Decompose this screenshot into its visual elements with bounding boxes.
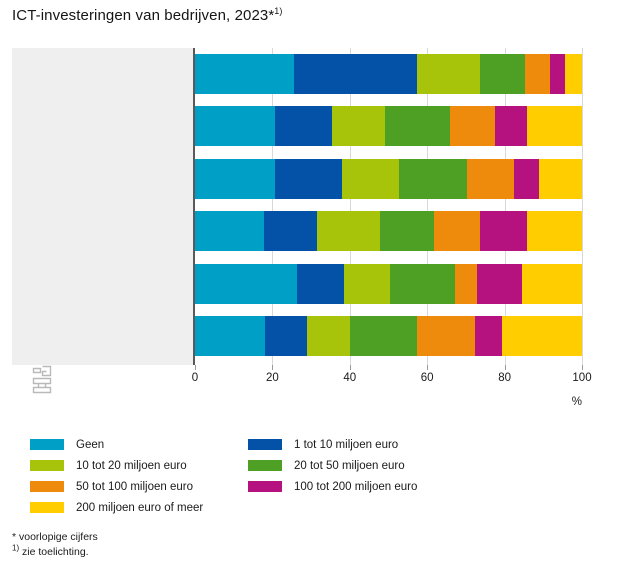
legend-swatch xyxy=(248,460,282,471)
bar-segment[interactable] xyxy=(495,106,527,146)
bar-row: Eén technologie xyxy=(12,159,582,199)
legend-item[interactable]: Geen xyxy=(30,434,250,455)
legend-label: 200 miljoen euro of meer xyxy=(76,502,203,514)
bar-row: Twee technologieën xyxy=(12,211,582,251)
legend-label: 50 tot 100 miljoen euro xyxy=(76,481,193,493)
bar-segment[interactable] xyxy=(475,316,502,356)
x-axis-tick-label: 40 xyxy=(343,372,356,384)
legend-swatch xyxy=(30,439,64,450)
bar-segment[interactable] xyxy=(477,264,522,304)
legend-label: 10 tot 20 miljoen euro xyxy=(76,460,187,472)
bar-segment[interactable] xyxy=(522,264,582,304)
legend-item[interactable]: 1 tot 10 miljoen euro xyxy=(248,434,508,455)
bar-segment[interactable] xyxy=(332,106,385,146)
bar-segment[interactable] xyxy=(264,211,317,251)
bar-row: Drie technologieën xyxy=(12,264,582,304)
x-axis-tick xyxy=(505,365,506,370)
bar-segment[interactable] xyxy=(195,264,297,304)
legend-item[interactable]: 10 tot 20 miljoen euro xyxy=(30,455,250,476)
bar-segment[interactable] xyxy=(417,316,475,356)
x-axis: 020406080100 xyxy=(12,365,582,395)
legend-swatch xyxy=(248,481,282,492)
legend-label: Geen xyxy=(76,439,104,451)
legend-swatch xyxy=(30,502,64,513)
bar-segment[interactable] xyxy=(195,211,264,251)
legend-label: 1 tot 10 miljoen euro xyxy=(294,439,398,451)
x-axis-tick xyxy=(582,365,583,370)
bar-segment[interactable] xyxy=(550,54,565,94)
chart-container: ICT-investeringen van bedrijven, 2023*1)… xyxy=(0,0,626,574)
bar-segment[interactable] xyxy=(455,264,477,304)
bar-segment[interactable] xyxy=(480,54,525,94)
bar-row: Geen AI-technologie xyxy=(12,54,582,94)
bar-segment[interactable] xyxy=(385,106,450,146)
page-title-text: ICT-investeringen van bedrijven, 2023* xyxy=(12,7,274,24)
stacked-bar xyxy=(195,54,582,94)
bar-segment[interactable] xyxy=(565,54,582,94)
bar-segment[interactable] xyxy=(275,159,342,199)
bar-segment[interactable] xyxy=(317,211,380,251)
x-axis-tick-label: 100 xyxy=(572,372,591,384)
legend-swatch xyxy=(248,439,282,450)
legend-swatch xyxy=(30,460,64,471)
bar-row: AI-technologie gebruikt xyxy=(12,106,582,146)
footnotes: * voorlopige cijfers 1) zie toelichting. xyxy=(12,530,98,560)
legend-column-left: Geen10 tot 20 miljoen euro50 tot 100 mil… xyxy=(30,434,250,518)
legend-item[interactable]: 200 miljoen euro of meer xyxy=(30,497,250,518)
legend-swatch xyxy=(30,481,64,492)
bar-segment[interactable] xyxy=(344,264,390,304)
bar-segment[interactable] xyxy=(390,264,455,304)
stacked-bar xyxy=(195,106,582,146)
stacked-bar xyxy=(195,316,582,356)
bar-row: Vier of meertechnologieën xyxy=(12,316,582,356)
bar-segment[interactable] xyxy=(342,159,399,199)
bar-segment[interactable] xyxy=(399,159,467,199)
bar-segment[interactable] xyxy=(294,54,417,94)
page-title: ICT-investeringen van bedrijven, 2023*1) xyxy=(12,7,283,24)
bar-segment[interactable] xyxy=(450,106,495,146)
bar-segment[interactable] xyxy=(297,264,344,304)
legend-item[interactable]: 20 tot 50 miljoen euro xyxy=(248,455,508,476)
legend-column-right: 1 tot 10 miljoen euro20 tot 50 miljoen e… xyxy=(248,434,508,497)
bar-segment[interactable] xyxy=(307,316,350,356)
footnote-line-1: * voorlopige cijfers xyxy=(12,530,98,545)
bar-segment[interactable] xyxy=(527,106,582,146)
bar-segment[interactable] xyxy=(434,211,480,251)
bar-segment[interactable] xyxy=(350,316,417,356)
bar-segment[interactable] xyxy=(527,211,582,251)
bar-segment[interactable] xyxy=(265,316,307,356)
bar-segment[interactable] xyxy=(525,54,550,94)
stacked-bar xyxy=(195,159,582,199)
bar-segment[interactable] xyxy=(275,106,332,146)
bar-segment[interactable] xyxy=(539,159,582,199)
legend-label: 20 tot 50 miljoen euro xyxy=(294,460,405,472)
x-axis-tick xyxy=(195,365,196,370)
bar-segment[interactable] xyxy=(514,159,539,199)
x-axis-tick xyxy=(272,365,273,370)
page-title-footnote-marker: 1) xyxy=(274,6,282,16)
legend-item[interactable]: 50 tot 100 miljoen euro xyxy=(30,476,250,497)
x-axis-tick xyxy=(350,365,351,370)
footnote-line-2: 1) zie toelichting. xyxy=(12,545,98,560)
bar-segment[interactable] xyxy=(480,211,527,251)
bar-segment[interactable] xyxy=(195,106,275,146)
stacked-bar xyxy=(195,264,582,304)
bar-segment[interactable] xyxy=(380,211,434,251)
bar-segment[interactable] xyxy=(467,159,514,199)
x-axis-tick-label: 20 xyxy=(266,372,279,384)
bar-segment[interactable] xyxy=(195,54,294,94)
x-axis-tick-label: 0 xyxy=(192,372,198,384)
bar-segment[interactable] xyxy=(195,159,275,199)
x-axis-tick-label: 60 xyxy=(421,372,434,384)
plot-area: Geen AI-technologieAI-technologie gebrui… xyxy=(12,48,582,365)
stacked-bar xyxy=(195,211,582,251)
x-axis-unit-label: % xyxy=(12,396,582,408)
bar-segment[interactable] xyxy=(195,316,265,356)
footnote-line-2-text: zie toelichting. xyxy=(19,546,88,558)
legend-label: 100 tot 200 miljoen euro xyxy=(294,481,417,493)
legend-item[interactable]: 100 tot 200 miljoen euro xyxy=(248,476,508,497)
bar-segment[interactable] xyxy=(417,54,480,94)
x-axis-tick xyxy=(427,365,428,370)
bar-segment[interactable] xyxy=(502,316,582,356)
x-axis-tick-label: 80 xyxy=(498,372,511,384)
gridline xyxy=(582,48,583,365)
